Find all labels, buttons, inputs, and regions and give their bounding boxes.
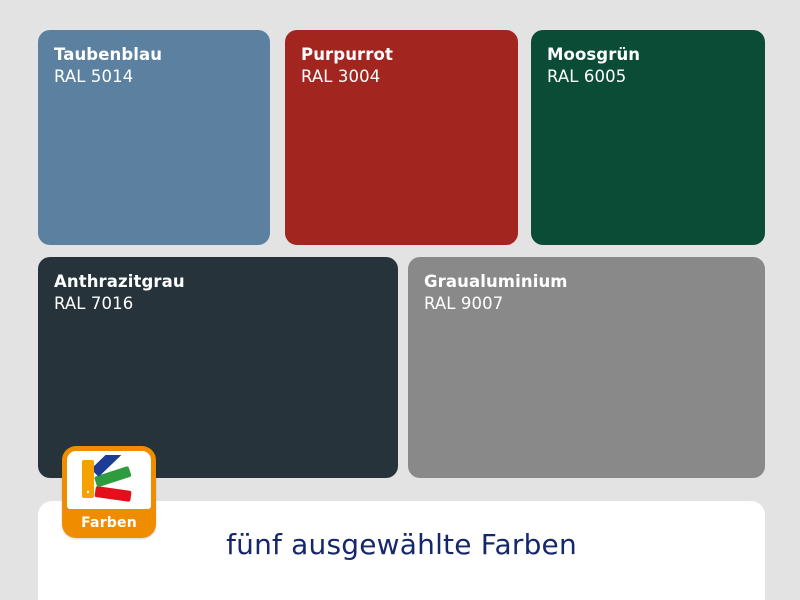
swatch-ral-code: RAL 5014 [54, 66, 162, 87]
swatch-label-group: Taubenblau RAL 5014 [54, 44, 162, 87]
swatch-card[interactable]: Taubenblau RAL 5014 [38, 30, 270, 245]
swatch-label-group: Moosgrün RAL 6005 [547, 44, 640, 87]
swatch-color-name: Moosgrün [547, 44, 640, 65]
farben-app-badge[interactable]: Farben [62, 446, 156, 538]
badge-icon-area [67, 451, 151, 509]
swatch-label-group: Graualuminium RAL 9007 [424, 271, 568, 314]
swatch-ral-code: RAL 9007 [424, 293, 568, 314]
swatch-card[interactable]: Anthrazitgrau RAL 7016 [38, 257, 398, 478]
swatch-color-name: Taubenblau [54, 44, 162, 65]
swatch-ral-code: RAL 6005 [547, 66, 640, 87]
swatch-card[interactable]: Purpurrot RAL 3004 [285, 30, 518, 245]
swatch-ral-code: RAL 7016 [54, 293, 185, 314]
swatch-ral-code: RAL 3004 [301, 66, 393, 87]
color-palette-board: Taubenblau RAL 5014 Purpurrot RAL 3004 M… [0, 0, 800, 600]
swatch-card[interactable]: Graualuminium RAL 9007 [408, 257, 765, 478]
swatch-color-name: Anthrazitgrau [54, 271, 185, 292]
swatch-color-name: Graualuminium [424, 271, 568, 292]
badge-label: Farben [67, 509, 151, 537]
swatch-color-name: Purpurrot [301, 44, 393, 65]
swatch-card[interactable]: Moosgrün RAL 6005 [531, 30, 765, 245]
swatch-label-group: Purpurrot RAL 3004 [301, 44, 393, 87]
swatch-label-group: Anthrazitgrau RAL 7016 [54, 271, 185, 314]
